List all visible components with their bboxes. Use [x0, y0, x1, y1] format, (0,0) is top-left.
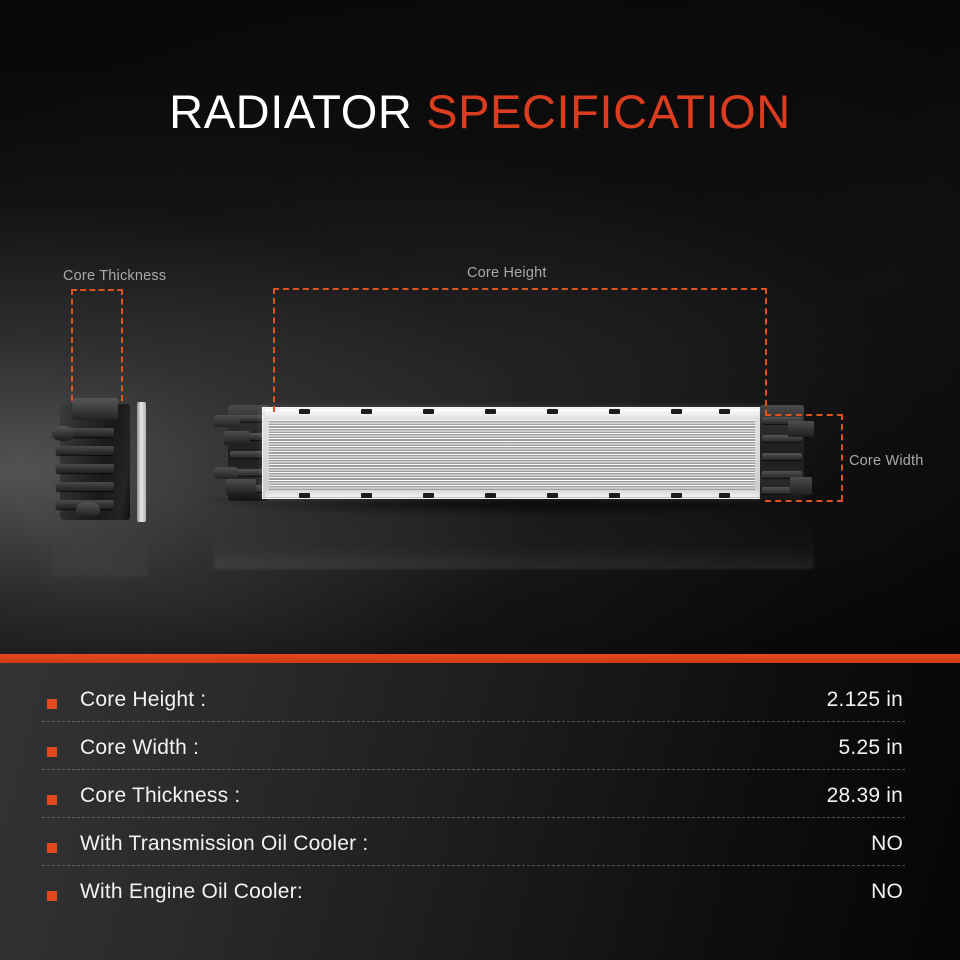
left-mount-bracket — [224, 431, 250, 445]
side-rib — [56, 482, 114, 491]
side-rib — [56, 446, 114, 455]
spec-separator — [42, 865, 905, 866]
core-fins — [269, 420, 755, 490]
side-inlet-port — [52, 426, 74, 441]
left-lower-bracket — [226, 479, 256, 495]
bullet-icon — [47, 795, 57, 805]
core-width-label: Core Width — [849, 453, 924, 469]
side-outlet-port — [76, 502, 100, 518]
core-height-guide-left — [273, 288, 275, 412]
spec-value: NO — [871, 880, 903, 904]
radiator-core — [262, 407, 762, 499]
side-view-reflection — [52, 524, 148, 576]
core-thickness-guide-left — [71, 289, 73, 401]
spec-row: With Engine Oil Cooler:NO — [0, 872, 960, 920]
spec-label: With Engine Oil Cooler: — [80, 880, 303, 904]
core-height-label: Core Height — [467, 265, 547, 281]
side-top-cap — [72, 398, 118, 420]
inlet-nipple — [214, 415, 240, 427]
spec-separator — [42, 817, 905, 818]
spec-separator — [42, 721, 905, 722]
core-width-guide-right — [841, 414, 843, 501]
spec-value: 28.39 in — [827, 784, 903, 808]
page-title-primary: RADIATOR — [169, 85, 426, 138]
spec-label: Core Width : — [80, 736, 199, 760]
spec-value: 5.25 in — [839, 736, 903, 760]
bullet-icon — [47, 699, 57, 709]
spec-separator — [42, 769, 905, 770]
bullet-icon — [47, 891, 57, 901]
spec-value: NO — [871, 832, 903, 856]
core-width-guide-top — [765, 414, 843, 416]
core-top-rail — [265, 409, 759, 420]
core-width-guide-bottom — [765, 500, 843, 502]
right-mount-bracket — [788, 421, 814, 437]
page-title: RADIATOR SPECIFICATION — [0, 88, 960, 135]
core-thickness-label: Core Thickness — [63, 268, 166, 284]
bullet-icon — [47, 843, 57, 853]
core-bottom-rail — [265, 490, 759, 497]
radiator-side-view — [52, 398, 148, 526]
side-core-edge — [137, 402, 146, 522]
section-divider — [0, 654, 960, 663]
product-spec-page: Core Thickness Core Height Core Width RA… — [0, 0, 960, 960]
side-rib — [56, 464, 114, 473]
right-lower-bracket — [790, 477, 812, 495]
spec-label: Core Height : — [80, 688, 206, 712]
radiator-reflection — [214, 503, 814, 569]
radiator-front-view — [214, 403, 814, 503]
core-thickness-guide-right — [121, 289, 123, 401]
outlet-nipple — [214, 467, 238, 479]
core-height-guide-right — [765, 288, 767, 416]
spec-label: With Transmission Oil Cooler : — [80, 832, 368, 856]
core-height-guide-top — [273, 288, 767, 290]
page-title-accent: SPECIFICATION — [426, 85, 791, 138]
spec-value: 2.125 in — [827, 688, 903, 712]
hero-section: Core Thickness Core Height Core Width RA… — [0, 0, 960, 654]
spec-label: Core Thickness : — [80, 784, 240, 808]
bullet-icon — [47, 747, 57, 757]
core-thickness-guide-top — [71, 289, 123, 291]
specification-table: Core Height :2.125 inCore Width :5.25 in… — [0, 663, 960, 960]
